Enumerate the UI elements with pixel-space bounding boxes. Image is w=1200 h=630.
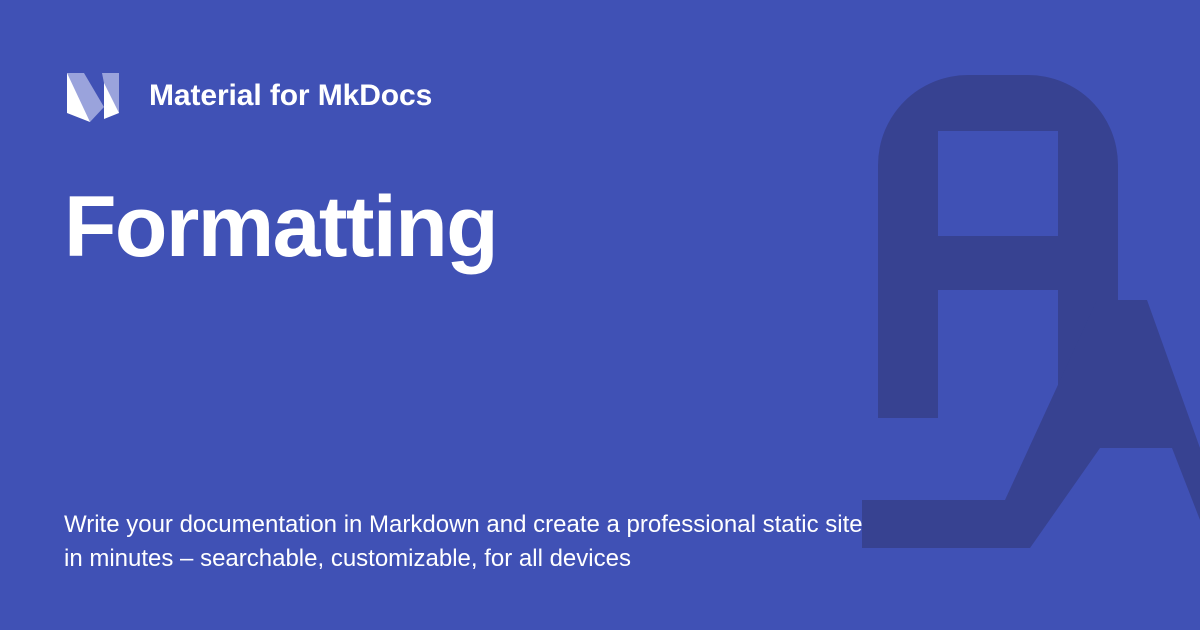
- header: Material for MkDocs: [64, 64, 432, 128]
- social-card: Material for MkDocs Formatting Write you…: [0, 0, 1200, 630]
- page-description: Write your documentation in Markdown and…: [64, 508, 894, 576]
- page-title: Formatting: [64, 182, 884, 272]
- description-line: Write your documentation in Markdown and…: [64, 508, 894, 542]
- material-for-mkdocs-logo-icon: [64, 67, 122, 125]
- header-title: Material for MkDocs: [149, 79, 432, 113]
- description-line: in minutes – searchable, customizable, f…: [64, 542, 894, 576]
